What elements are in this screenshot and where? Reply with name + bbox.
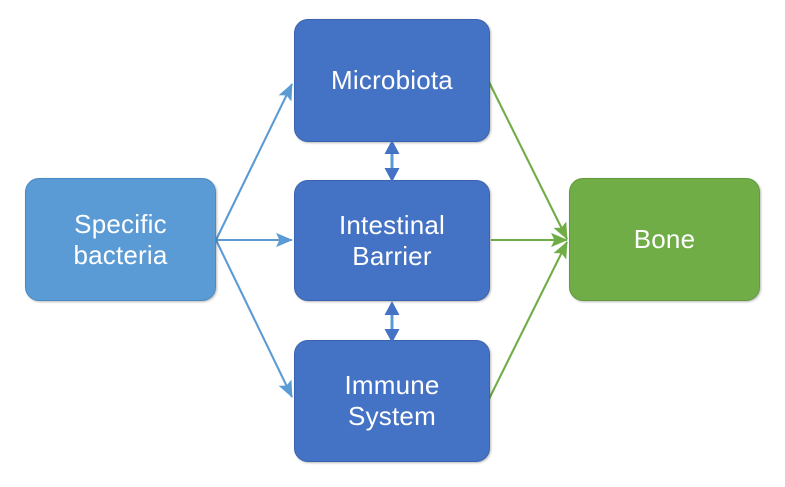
- edge-microbiota-intestinal-barrier: [385, 140, 400, 182]
- vertical-edge-layer: [0, 0, 785, 487]
- edge-intestinal-barrier-immune-system: [385, 301, 400, 343]
- diagram-canvas: Specific bacteria Microbiota Intestinal …: [0, 0, 785, 487]
